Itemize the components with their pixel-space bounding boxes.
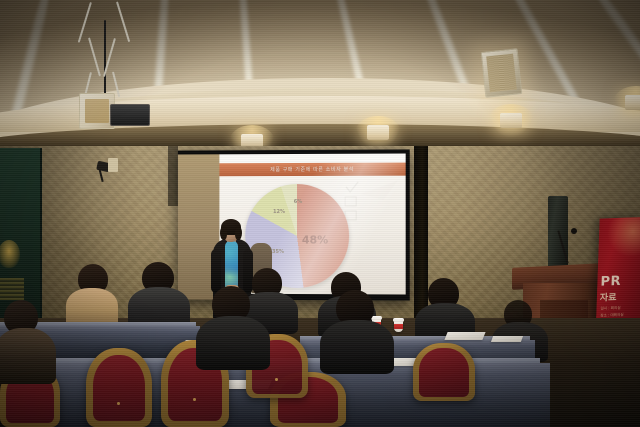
banner-text-block <box>0 278 24 300</box>
attendee-foreground <box>0 300 56 380</box>
checklist-watermark-icon <box>343 180 399 226</box>
wall-sconce <box>500 113 522 128</box>
banquet-chair[interactable] <box>413 343 475 401</box>
banner-headline: PR <box>600 274 621 290</box>
pie-label-48: 48% <box>302 234 328 247</box>
projector-cable <box>104 20 106 96</box>
attendee-foreground <box>196 286 270 366</box>
ceiling-speaker-icon <box>481 48 523 98</box>
wall-plate <box>108 158 118 172</box>
slide-title: 제품 구매 기준에 따른 소비자 분석 <box>270 166 354 173</box>
attendee-foreground <box>320 290 394 370</box>
pie-label-12: 12% <box>273 209 285 215</box>
banner-meta-1: 일시 : 회의실 <box>600 306 620 312</box>
attendee-dark-suit <box>415 278 475 340</box>
pie-label-6: 6% <box>294 199 302 205</box>
slide-title-bar: 제품 구매 기준에 따른 소비자 분석 <box>219 163 405 177</box>
conference-photo: 제품 구매 기준에 따른 소비자 분석 48% 35% 12% 6% <box>0 0 640 427</box>
wall-sconce <box>367 125 389 140</box>
paper-cup <box>394 320 403 332</box>
wall-sconce <box>625 95 640 110</box>
microphone-icon <box>571 228 577 234</box>
projector-icon <box>110 104 150 126</box>
handout <box>444 332 485 340</box>
banquet-chair[interactable] <box>86 348 152 427</box>
emblem-icon <box>0 240 20 268</box>
banner-subhead: 자료 <box>600 290 617 304</box>
attendee-dark-suit <box>128 262 190 328</box>
attendee-beige-jacket <box>66 264 118 326</box>
handout <box>491 336 523 342</box>
ceiling <box>0 0 640 152</box>
pie-label-35: 35% <box>272 249 284 255</box>
side-banner-green <box>0 148 42 323</box>
wall-column <box>168 146 178 206</box>
